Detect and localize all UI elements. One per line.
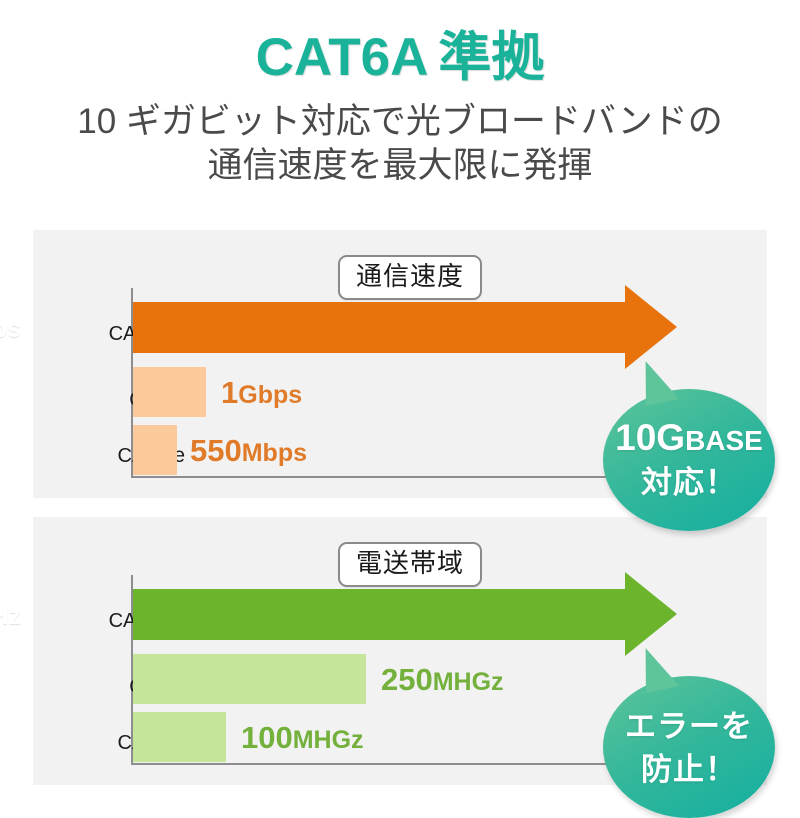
callout-line-1: 10GBASE (603, 419, 775, 456)
bar-cat6-bandwidth (133, 654, 366, 704)
bar-cat6-speed (133, 367, 206, 417)
bar-value-number: 1 (221, 375, 238, 410)
bar-value-cat6a-speed: 10Gbps (0, 307, 21, 345)
bar-value-unit: Mbps (242, 439, 307, 467)
bar-value-number: 550 (190, 433, 242, 468)
bar-value-unit: Gbps (0, 315, 21, 343)
bar-body (133, 302, 627, 353)
page-title-jp: 準拠 (438, 28, 544, 87)
callout-line-1-small: エラーを (625, 709, 753, 744)
bar-value-unit: MHz (0, 602, 21, 630)
callout-line-2-text: 対応！ (641, 465, 737, 500)
bar-value-cat6a-bandwidth: 500MHz (0, 594, 21, 632)
bar-cat5e-speed (133, 425, 177, 475)
page-subtitle-line-1: 10 ギガビット対応で光ブロードバンドの (0, 100, 800, 145)
callout-line-1-big: 10G (615, 417, 685, 458)
page-title-en: CAT6A (256, 28, 429, 87)
bar-body (133, 589, 627, 640)
callout-line-2: 防止！ (603, 754, 775, 785)
callout-line-2: 対応！ (603, 467, 775, 498)
callout-line-2-text: 防止！ (641, 752, 737, 787)
page-title: CAT6A準拠 (0, 30, 800, 86)
bar-value-unit: Gbps (238, 381, 302, 409)
bar-value-cat6-bandwidth: 250MHGz (381, 662, 504, 698)
bar-value-cat5e-speed: 550Mbps (190, 433, 307, 469)
callout-bubble-error-prevention: エラーを 防止！ (603, 676, 775, 818)
bar-value-unit: MHGz (293, 726, 364, 754)
callout-line-1: エラーを (603, 706, 775, 743)
bar-value-unit: MHGz (433, 668, 504, 696)
bar-cat5e-bandwidth (133, 712, 226, 762)
callout-bubble-10gbase: 10GBASE 対応！ (603, 389, 775, 531)
bar-value-number: 100 (241, 720, 293, 755)
header: CAT6A準拠 10 ギガビット対応で光ブロードバンドの 通信速度を最大限に発揮 (0, 0, 800, 189)
page-subtitle: 10 ギガビット対応で光ブロードバンドの 通信速度を最大限に発揮 (0, 100, 800, 190)
page-subtitle-line-2: 通信速度を最大限に発揮 (0, 144, 800, 189)
bar-value-cat6-speed: 1Gbps (221, 375, 302, 411)
chart-title-speed: 通信速度 (338, 255, 482, 300)
callout-line-1-small: BASE (685, 425, 763, 456)
bar-value-number: 250 (381, 662, 433, 697)
chart-title-bandwidth: 電送帯域 (338, 542, 482, 587)
bar-value-cat5e-bandwidth: 100MHGz (241, 720, 364, 756)
